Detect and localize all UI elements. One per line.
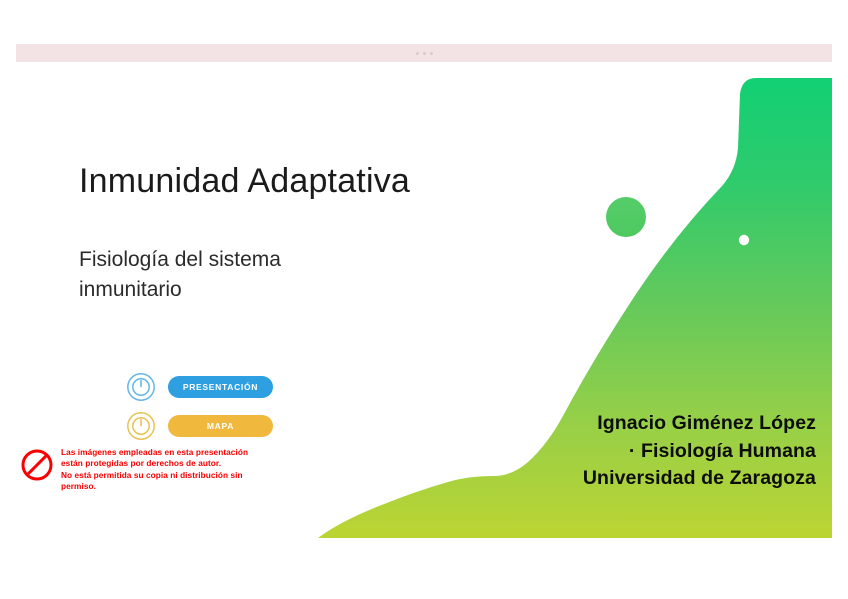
author-department: · Fisiología Humana <box>583 438 816 466</box>
copyright-line-3: No está permitida su copia ni distribuci… <box>61 470 248 481</box>
mapa-button[interactable]: MAPA <box>168 415 273 437</box>
floating-circle <box>606 197 646 237</box>
viewer-toolbar <box>16 44 832 62</box>
author-block: Ignacio Giménez López · Fisiología Human… <box>583 410 816 493</box>
no-entry-icon <box>20 448 54 482</box>
power-icon[interactable] <box>126 411 156 441</box>
copyright-line-2: están protegidas por derechos de autor. <box>61 458 248 469</box>
nav-row-mapa: MAPA <box>126 411 273 441</box>
dot <box>416 52 419 55</box>
dot <box>430 52 433 55</box>
copyright-text: Las imágenes empleadas en esta presentac… <box>61 447 248 493</box>
nav-row-presentacion: PRESENTACIÓN <box>126 372 273 402</box>
accent-dot-large <box>739 235 749 245</box>
presentation-slide: Inmunidad Adaptativa Fisiología del sist… <box>0 0 848 599</box>
author-institution: Universidad de Zaragoza <box>583 465 816 493</box>
presentacion-button[interactable]: PRESENTACIÓN <box>168 376 273 398</box>
power-icon[interactable] <box>126 372 156 402</box>
navigation-buttons: PRESENTACIÓN MAPA <box>126 372 273 441</box>
three-dots-icon[interactable] <box>416 52 433 55</box>
author-name: Ignacio Giménez López <box>583 410 816 438</box>
slide-canvas: Inmunidad Adaptativa Fisiología del sist… <box>16 62 832 562</box>
slide-subtitle: Fisiología del sistema inmunitario <box>79 245 379 306</box>
slide-title: Inmunidad Adaptativa <box>79 162 410 201</box>
accent-dot-small <box>707 179 713 185</box>
copyright-line-4: permiso. <box>61 481 248 492</box>
copyright-notice: Las imágenes empleadas en esta presentac… <box>20 447 340 493</box>
dot <box>423 52 426 55</box>
copyright-line-1: Las imágenes empleadas en esta presentac… <box>61 447 248 458</box>
